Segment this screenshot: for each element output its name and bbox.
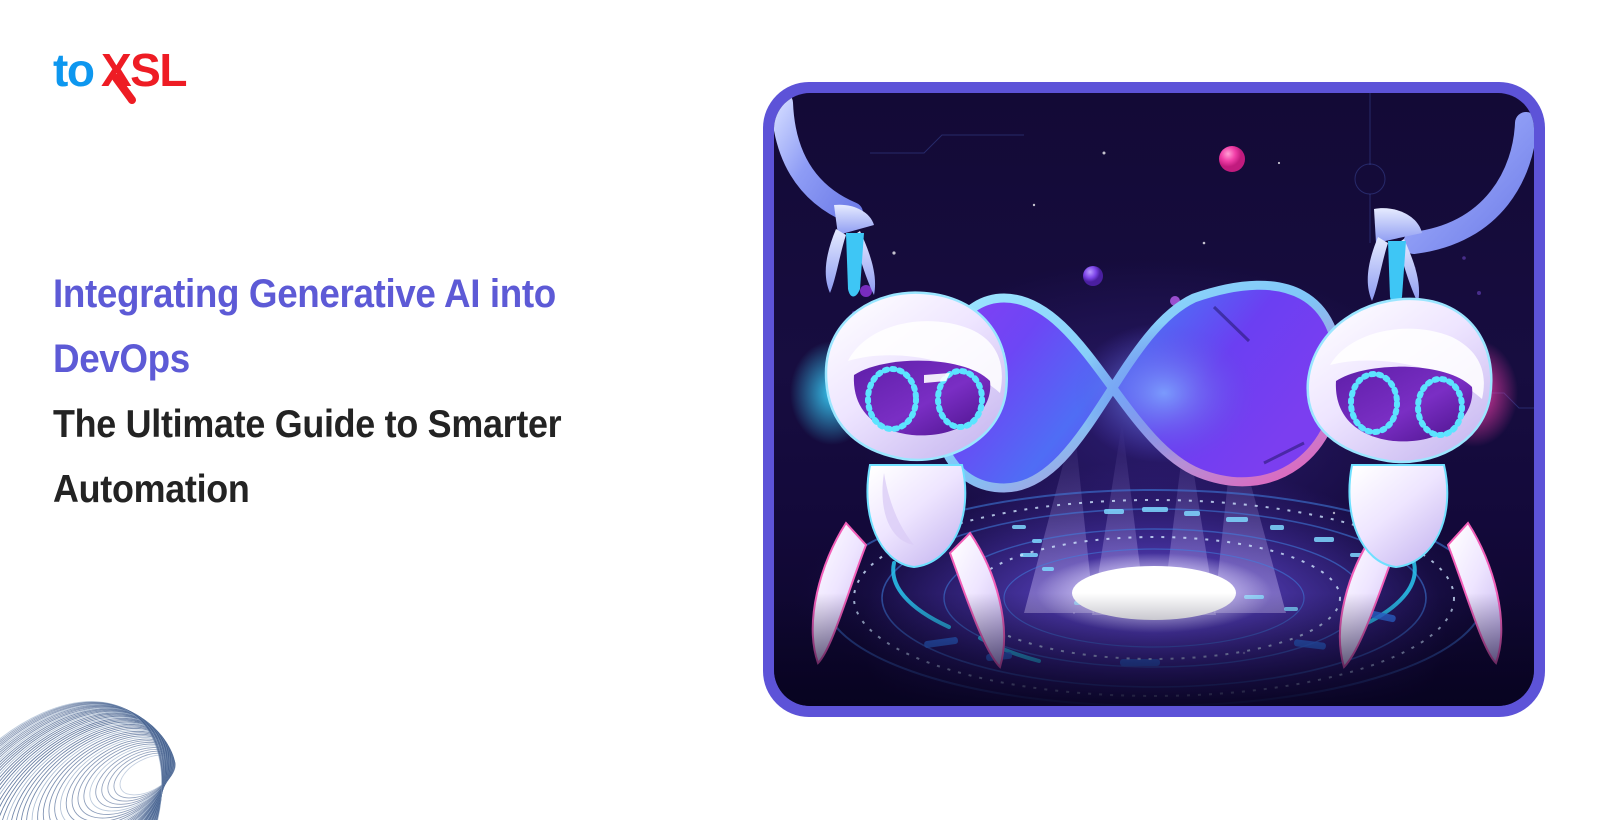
illustration-vignette [774,93,1534,706]
toxsl-logo-icon: to XSL [53,48,203,110]
illustration-canvas [774,93,1534,706]
subheadline-line-1: The Ultimate Guide to Smarter [53,392,660,457]
logo-text-xsl: XSL [101,48,186,96]
logo-text-to: to [53,48,94,96]
illustration-card [763,82,1545,717]
line-art-swirl-decoration [0,540,320,820]
headline-line-1: Integrating Generative AI into [53,262,660,327]
subheadline-line-2: Automation [53,457,660,522]
brand-logo[interactable]: to XSL toXSL [53,48,203,110]
headline-line-2: DevOps [53,327,660,392]
headline-block: Integrating Generative AI into DevOps Th… [53,262,713,522]
